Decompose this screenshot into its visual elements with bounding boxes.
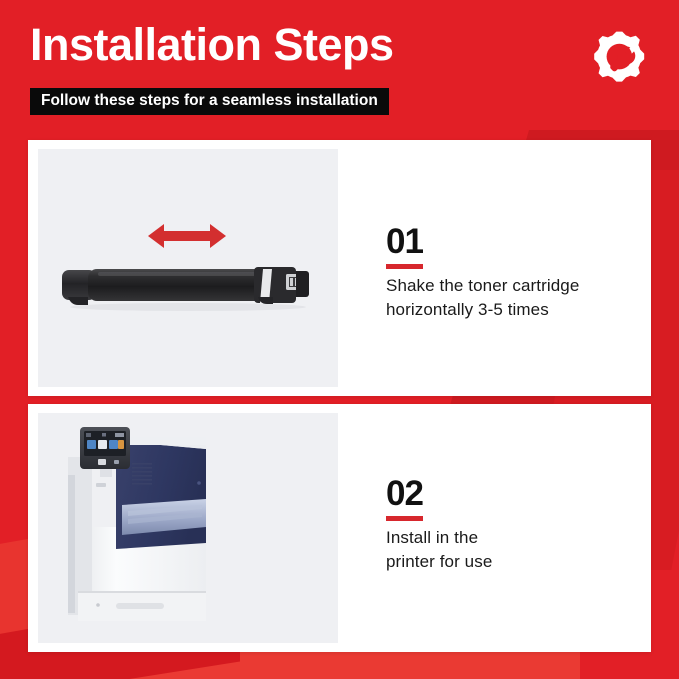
step-card-1: 01 Shake the toner cartridge horizontall… bbox=[28, 140, 651, 396]
header: Installation Steps Follow these steps fo… bbox=[0, 0, 679, 130]
page-title: Installation Steps bbox=[30, 22, 394, 67]
step-2-number: 02 bbox=[386, 476, 423, 521]
toner-cartridge-image bbox=[58, 257, 318, 317]
horizontal-double-arrow-icon bbox=[146, 221, 228, 256]
step-1-text: Shake the toner cartridge horizontally 3… bbox=[386, 274, 579, 322]
subtitle-banner: Follow these steps for a seamless instal… bbox=[30, 88, 389, 115]
step-2-text: Install in the printer for use bbox=[386, 526, 492, 574]
step-1-number: 01 bbox=[386, 224, 423, 269]
step-card-2: 02 Install in the printer for use bbox=[28, 404, 651, 652]
step-2-media bbox=[38, 413, 338, 643]
printer-image bbox=[56, 423, 256, 638]
step-2-body: 02 Install in the printer for use bbox=[338, 404, 651, 652]
step-1-body: 01 Shake the toner cartridge horizontall… bbox=[338, 140, 651, 396]
step-1-media bbox=[38, 149, 338, 387]
gear-wrench-icon bbox=[591, 28, 653, 90]
